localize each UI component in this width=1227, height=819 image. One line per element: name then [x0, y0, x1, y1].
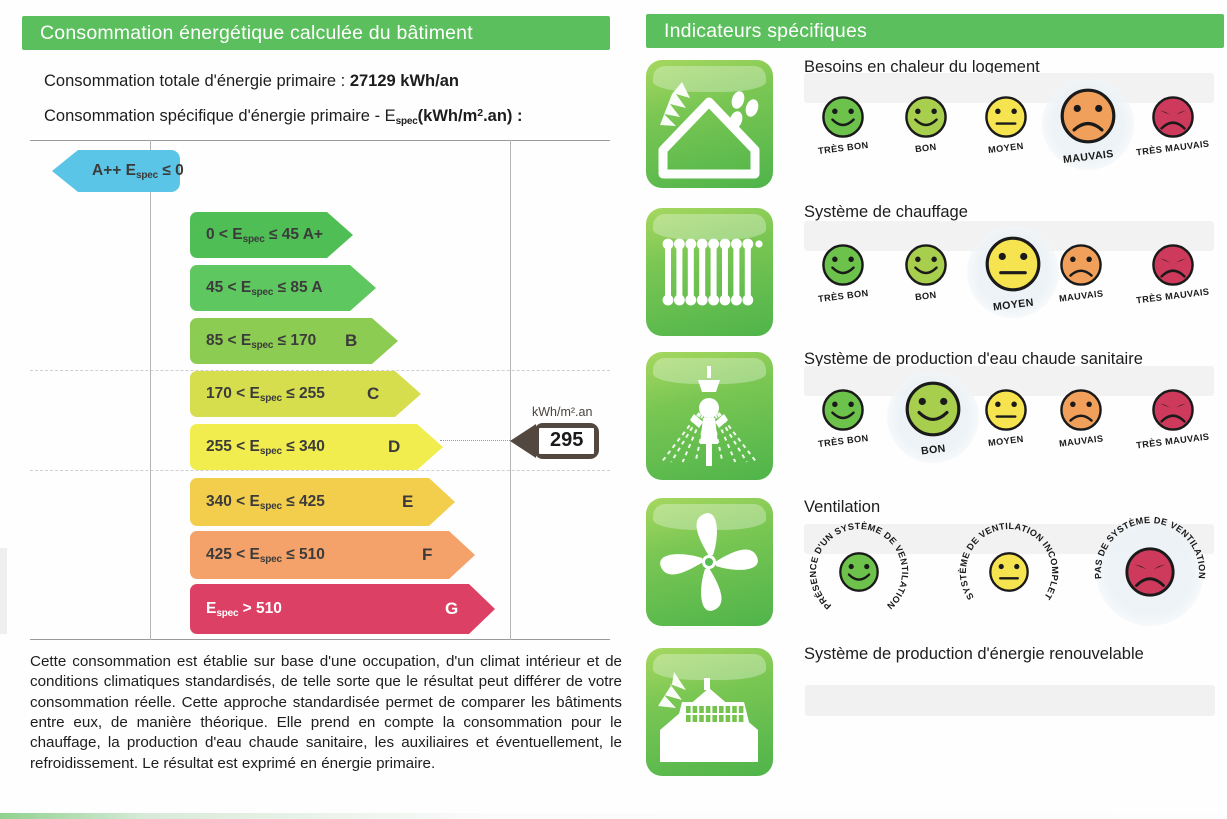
- pointer-unit-label: kWh/m².an: [532, 405, 592, 419]
- band-range-text: 170 < Espec ≤ 255: [206, 385, 325, 404]
- rating-option-mauvais[interactable]: MAUVAIS: [1042, 388, 1120, 446]
- rating-option-mauvais[interactable]: MAUVAIS: [1042, 243, 1120, 301]
- rating-option-bon[interactable]: BON: [887, 243, 965, 301]
- rating-option-label: MOYEN: [988, 434, 1025, 448]
- rating-option-label: TRÈS MAUVAIS: [1136, 139, 1210, 158]
- bottom-accent-bar: [0, 813, 1227, 819]
- band-label-layer: 0 < Espec ≤ 45 A+: [190, 212, 353, 258]
- face-icon: MOYEN: [984, 388, 1028, 446]
- measured-value: 295: [538, 427, 595, 455]
- shower-icon: [646, 352, 773, 480]
- energy-band-b: 85 < Espec ≤ 170B: [190, 318, 398, 364]
- energy-band-aplusplus: A++ Espec ≤ 0: [52, 150, 180, 192]
- band-range-text: 425 < Espec ≤ 510: [206, 546, 325, 565]
- rating-option-mauvais[interactable]: MAUVAIS: [1042, 87, 1134, 163]
- face-icon: TRÈS MAUVAIS: [1136, 243, 1210, 301]
- rating-option-label: TRÈS MAUVAIS: [1136, 432, 1210, 451]
- face-icon: TRÈS BON: [818, 388, 869, 446]
- band-grade-letter: C: [367, 384, 379, 404]
- rating-option-label: MOYEN: [988, 141, 1025, 155]
- face-icon: MAUVAIS: [1059, 243, 1103, 301]
- rating-option-moyen[interactable]: MOYEN: [967, 95, 1045, 153]
- total-energy-line: Consommation totale d'énergie primaire :…: [44, 72, 459, 91]
- band-range-text: 340 < Espec ≤ 425: [206, 493, 325, 512]
- band-grade-letter: E: [402, 492, 413, 512]
- band-range-text: Espec > 510: [206, 600, 282, 619]
- face-icon: TRÈS BON: [818, 95, 869, 153]
- rating-option-label: TRÈS MAUVAIS: [1136, 287, 1210, 306]
- energy-band-c: 170 < Espec ≤ 255C: [190, 371, 421, 417]
- epc-page: Consommation énergétique calculée du bât…: [0, 0, 1227, 819]
- band-label-layer: 85 < Espec ≤ 170B: [190, 318, 398, 364]
- rating-option-tr-s-bon[interactable]: TRÈS BON: [804, 388, 882, 446]
- circular-label-wrapper: SYSTÈME DE VENTILATION INCOMPLET: [959, 522, 1059, 622]
- indicator-title: Ventilation: [804, 498, 880, 517]
- band-label-layer: 340 < Espec ≤ 425E: [190, 478, 455, 526]
- indicator-title: Système de production d'énergie renouvel…: [804, 645, 1144, 664]
- pointer-box: 295: [534, 423, 599, 459]
- face-icon: MOYEN: [984, 235, 1042, 311]
- scale-axis-left: [150, 140, 151, 640]
- rating-option-label: BON: [915, 290, 938, 303]
- disclaimer-text: Cette consommation est établie sur base …: [30, 652, 622, 774]
- face-icon: BON: [904, 243, 948, 301]
- band-range-text: A++ Espec ≤ 0: [92, 162, 184, 181]
- band-label-layer: 255 < Espec ≤ 340D: [190, 424, 443, 470]
- specific-energy-line: Consommation spécifique d'énergie primai…: [44, 107, 523, 127]
- energy-band-g: Espec > 510G: [190, 584, 495, 634]
- pointer-arrow-tip: [510, 424, 536, 458]
- scale-gridline: [30, 470, 610, 471]
- rating-option-label: BON: [920, 443, 946, 458]
- specific-energy-label-a: Consommation spécifique d'énergie primai…: [44, 107, 396, 125]
- rating-option-label: TRÈS BON: [817, 288, 869, 304]
- rating-option-tr-s-mauvais[interactable]: TRÈS MAUVAIS: [1134, 95, 1212, 153]
- renewable-empty-scale: [805, 685, 1215, 716]
- band-grade-letter: F: [422, 545, 432, 565]
- band-grade-letter: D: [388, 437, 400, 457]
- band-range-text: 0 < Espec ≤ 45 A+: [206, 226, 323, 245]
- rating-option-label: MAUVAIS: [1058, 433, 1103, 448]
- face-icon: MAUVAIS: [1059, 87, 1117, 163]
- radiator-icon: [646, 208, 773, 336]
- rating-option-label: BON: [915, 142, 938, 155]
- energy-band-f: 425 < Espec ≤ 510F: [190, 531, 475, 579]
- face-icon: TRÈS MAUVAIS: [1136, 388, 1210, 446]
- ventilation-option-3[interactable]: PAS DE SYSTÈME DE VENTILATION: [1094, 516, 1206, 628]
- energy-consumption-panel: Consommation énergétique calculée du bât…: [0, 0, 632, 819]
- espec-subscript: spec: [396, 116, 418, 127]
- total-energy-label: Consommation totale d'énergie primaire :: [44, 72, 350, 90]
- energy-band-aplus: 0 < Espec ≤ 45 A+: [190, 212, 353, 258]
- face-icon: TRÈS MAUVAIS: [1136, 95, 1210, 153]
- house-sun-rain-icon: [646, 60, 773, 188]
- rating-option-label: TRÈS BON: [817, 140, 869, 156]
- rating-option-label: TRÈS BON: [817, 433, 869, 449]
- face-icon: TRÈS BON: [818, 243, 869, 301]
- band-grade-letter: G: [445, 599, 458, 619]
- rating-option-tr-s-mauvais[interactable]: TRÈS MAUVAIS: [1134, 388, 1212, 446]
- rating-option-bon[interactable]: BON: [887, 380, 979, 456]
- specific-energy-unit-b: .an) :: [483, 107, 522, 125]
- rating-option-tr-s-mauvais[interactable]: TRÈS MAUVAIS: [1134, 243, 1212, 301]
- rating-option-tr-s-bon[interactable]: TRÈS BON: [804, 243, 882, 301]
- energy-band-a: 45 < Espec ≤ 85 A: [190, 265, 376, 311]
- energy-band-e: 340 < Espec ≤ 425E: [190, 478, 455, 526]
- ventilation-option-2[interactable]: SYSTÈME DE VENTILATION INCOMPLET: [959, 522, 1059, 622]
- face-icon: [838, 551, 880, 593]
- band-label-layer: A++ Espec ≤ 0: [52, 150, 180, 192]
- specific-energy-unit-a: (kWh/m: [418, 107, 478, 125]
- face-icon: MAUVAIS: [1059, 388, 1103, 446]
- rating-option-tr-s-bon[interactable]: TRÈS BON: [804, 95, 882, 153]
- band-range-text: 85 < Espec ≤ 170: [206, 332, 316, 351]
- band-label-layer: 45 < Espec ≤ 85 A: [190, 265, 376, 311]
- fan-icon: [646, 498, 773, 626]
- face-icon: BON: [904, 95, 948, 153]
- pointer-leader-line: [440, 440, 512, 441]
- ventilation-option-1[interactable]: PRÉSENCE D'UN SYSTÈME DE VENTILATION: [809, 522, 909, 622]
- face-icon: [1124, 546, 1176, 598]
- solar-house-icon: [646, 648, 773, 776]
- energy-band-d: 255 < Espec ≤ 340D: [190, 424, 443, 470]
- band-label-layer: Espec > 510G: [190, 584, 495, 634]
- right-panel-header: Indicateurs spécifiques: [646, 14, 1224, 48]
- band-label-layer: 170 < Espec ≤ 255C: [190, 371, 421, 417]
- circular-label-wrapper: PRÉSENCE D'UN SYSTÈME DE VENTILATION: [809, 522, 909, 622]
- band-range-text: 45 < Espec ≤ 85 A: [206, 279, 323, 298]
- measured-value-pointer: 295: [510, 423, 599, 459]
- scale-axis-right: [510, 140, 511, 640]
- indicator-title: Système de chauffage: [804, 203, 968, 222]
- band-range-text: 255 < Espec ≤ 340: [206, 438, 325, 457]
- face-icon: MOYEN: [984, 95, 1028, 153]
- band-label-layer: 425 < Espec ≤ 510F: [190, 531, 475, 579]
- rating-option-moyen[interactable]: MOYEN: [967, 388, 1045, 446]
- specific-indicators-panel: Indicateurs spécifiques Besoins en chale…: [632, 0, 1227, 819]
- left-panel-header: Consommation énergétique calculée du bât…: [22, 16, 610, 50]
- rating-option-bon[interactable]: BON: [887, 95, 965, 153]
- face-icon: BON: [904, 380, 962, 456]
- band-grade-letter: B: [345, 331, 357, 351]
- circular-label-wrapper: PAS DE SYSTÈME DE VENTILATION: [1094, 516, 1206, 628]
- rating-option-label: MAUVAIS: [1058, 288, 1103, 303]
- rating-option-label: MOYEN: [992, 297, 1034, 314]
- total-energy-value: 27129 kWh/an: [350, 72, 459, 90]
- face-icon: [988, 551, 1030, 593]
